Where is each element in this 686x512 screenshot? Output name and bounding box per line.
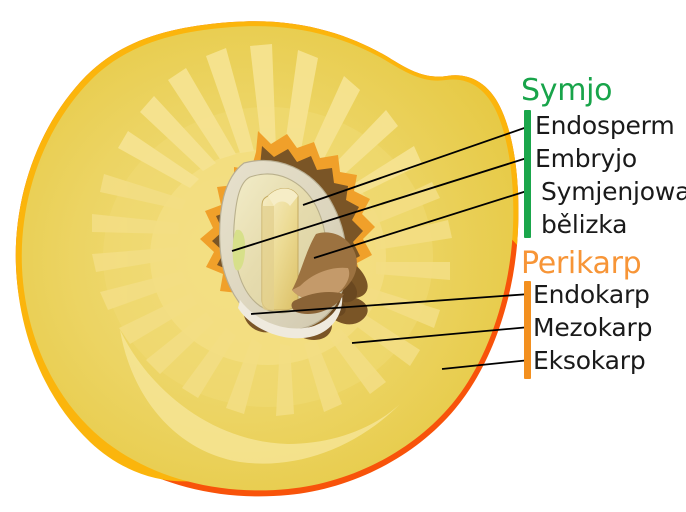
- label-symjenjowa[interactable]: Symjenjowa: [535, 179, 686, 204]
- label-embryjo[interactable]: Embryjo: [535, 146, 637, 171]
- embryo-prism-side: [262, 206, 274, 310]
- group-title-seed: Symjo: [521, 76, 612, 106]
- label-endosperm[interactable]: Endosperm: [535, 113, 674, 138]
- label-eksokarp[interactable]: Eksokarp: [533, 348, 646, 373]
- label-belizka[interactable]: bělizka: [535, 212, 627, 237]
- group-bracket-pericarp: [524, 281, 531, 379]
- label-mezokarp[interactable]: Mezokarp: [533, 315, 652, 340]
- group-bracket-seed: [524, 110, 531, 238]
- label-endokarp[interactable]: Endokarp: [533, 282, 650, 307]
- diagram-root: Symjo Endosperm Embryjo Symjenjowa běliz…: [0, 0, 686, 512]
- group-title-pericarp: Perikarp: [521, 249, 641, 279]
